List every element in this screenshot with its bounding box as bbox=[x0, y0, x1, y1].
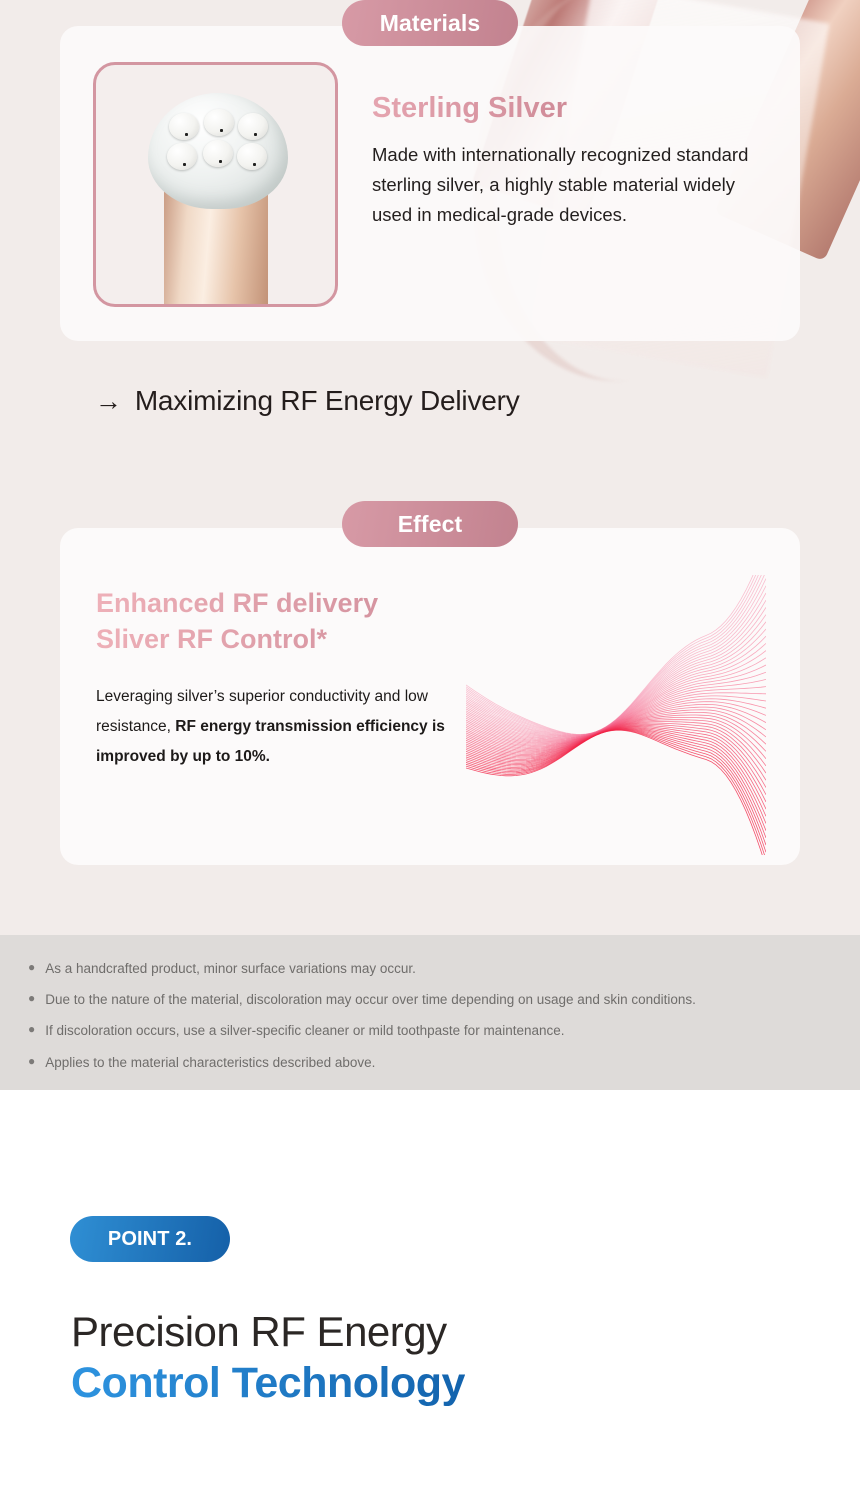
bullet-icon: ● bbox=[28, 960, 35, 976]
page-title: Precision RF Energy Control Technology bbox=[71, 1306, 465, 1410]
effect-body: Leveraging silver’s superior conductivit… bbox=[96, 682, 496, 773]
list-item-label: Applies to the material characteristics … bbox=[45, 1054, 375, 1072]
electrode-icon bbox=[238, 113, 268, 140]
maximizing-heading: → Maximizing RF Energy Delivery bbox=[95, 385, 520, 417]
effect-text-block: Enhanced RF delivery Sliver RF Control* … bbox=[96, 586, 496, 772]
electrode-icon bbox=[237, 143, 267, 170]
list-item-label: If discoloration occurs, use a silver-sp… bbox=[45, 1022, 564, 1040]
rf-wave-graphic bbox=[466, 575, 766, 855]
materials-badge: Materials bbox=[342, 0, 518, 46]
arrow-right-icon: → bbox=[95, 386, 122, 417]
materials-title: Sterling Silver bbox=[372, 92, 772, 125]
point2-section: POINT 2. Precision RF Energy Control Tec… bbox=[0, 1090, 860, 1500]
device-photo-frame bbox=[93, 62, 338, 307]
electrode-icon bbox=[204, 109, 234, 136]
materials-badge-label: Materials bbox=[380, 10, 481, 37]
disclaimer-band: ● As a handcrafted product, minor surfac… bbox=[0, 935, 860, 1090]
point2-badge-label: POINT 2. bbox=[108, 1228, 192, 1251]
materials-body: Made with internationally recognized sta… bbox=[372, 140, 772, 230]
rf-device-head-icon bbox=[96, 65, 335, 304]
device-head-icon bbox=[148, 93, 288, 209]
bullet-icon: ● bbox=[28, 1022, 35, 1038]
materials-section: Materials Sterling Silver Made with inte… bbox=[0, 0, 860, 935]
materials-text-block: Sterling Silver Made with internationall… bbox=[372, 92, 772, 230]
effect-title-line2: Sliver RF Control* bbox=[96, 622, 496, 658]
bullet-icon: ● bbox=[28, 1054, 35, 1070]
point2-heading-line2: Control Technology bbox=[71, 1357, 465, 1409]
electrode-icon bbox=[203, 140, 233, 167]
disclaimer-list: ● As a handcrafted product, minor surfac… bbox=[28, 960, 838, 1085]
electrode-icon bbox=[169, 113, 199, 140]
effect-badge-label: Effect bbox=[398, 511, 463, 538]
point2-badge: POINT 2. bbox=[70, 1216, 230, 1262]
point2-heading-line1: Precision RF Energy bbox=[71, 1306, 465, 1357]
list-item: ● Due to the nature of the material, dis… bbox=[28, 991, 838, 1009]
list-item: ● Applies to the material characteristic… bbox=[28, 1054, 838, 1072]
effect-title-line1: Enhanced RF delivery bbox=[96, 586, 496, 622]
bullet-icon: ● bbox=[28, 991, 35, 1007]
list-item-label: Due to the nature of the material, disco… bbox=[45, 991, 696, 1009]
list-item: ● As a handcrafted product, minor surfac… bbox=[28, 960, 838, 978]
effect-badge: Effect bbox=[342, 501, 518, 547]
maximizing-label: Maximizing RF Energy Delivery bbox=[135, 385, 520, 417]
list-item: ● If discoloration occurs, use a silver-… bbox=[28, 1022, 838, 1040]
electrode-icon bbox=[167, 143, 197, 170]
effect-title: Enhanced RF delivery Sliver RF Control* bbox=[96, 586, 496, 658]
list-item-label: As a handcrafted product, minor surface … bbox=[45, 960, 416, 978]
